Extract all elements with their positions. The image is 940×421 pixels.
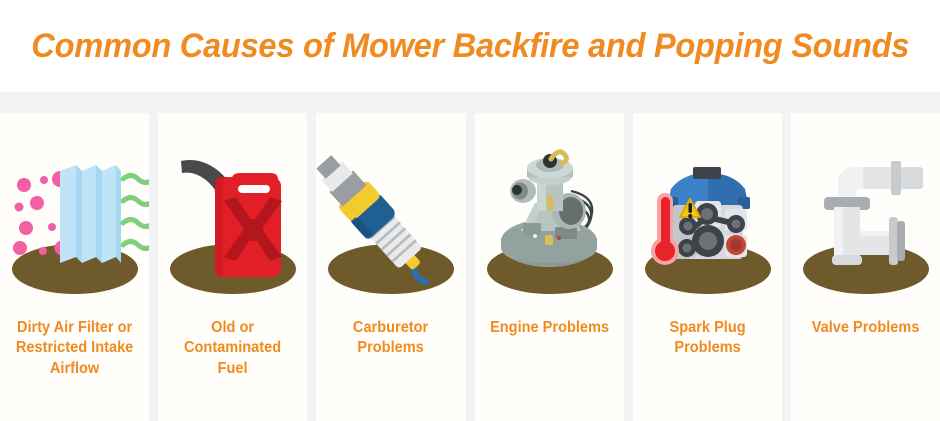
engine-block-icon — [633, 135, 782, 305]
engine-block-art — [633, 135, 782, 305]
carburetor-icon — [475, 135, 624, 305]
card-label: Old or Contaminated Fuel — [163, 318, 303, 379]
card-label: Valve Problems — [795, 318, 935, 338]
fuel-can-icon — [158, 135, 307, 305]
card-valve[interactable]: Valve Problems — [791, 113, 940, 421]
air-filter-icon — [0, 135, 149, 305]
card-engine[interactable]: Engine Problems — [475, 113, 624, 421]
card-label: Dirty Air Filter or Restricted Intake Ai… — [4, 318, 144, 379]
card-spark-plug[interactable]: Spark Plug Problems — [633, 113, 782, 421]
valve-pipe-art — [791, 135, 940, 305]
card-label: Engine Problems — [479, 318, 619, 338]
card-label: Carburetor Problems — [321, 318, 461, 359]
valve-pipe-icon — [791, 135, 940, 305]
carburetor-art — [475, 135, 624, 305]
page-title: Common Causes of Mower Backfire and Popp… — [31, 27, 909, 66]
title-divider-band — [0, 92, 940, 113]
air-filter-art — [0, 135, 149, 305]
card-carburetor[interactable]: Carburetor Problems — [316, 113, 465, 421]
card-fuel[interactable]: Old or Contaminated Fuel — [158, 113, 307, 421]
filter-pleats-group — [60, 165, 121, 263]
airflow-arrows-group — [123, 176, 149, 249]
cards-row: Dirty Air Filter or Restricted Intake Ai… — [0, 113, 940, 421]
spark-plug-art — [316, 135, 465, 305]
title-bar: Common Causes of Mower Backfire and Popp… — [0, 0, 940, 92]
card-air-filter[interactable]: Dirty Air Filter or Restricted Intake Ai… — [0, 113, 149, 421]
spark-plug-icon — [316, 135, 465, 305]
card-label: Spark Plug Problems — [637, 318, 777, 359]
infographic-root: Common Causes of Mower Backfire and Popp… — [0, 0, 940, 421]
fuel-can-art — [158, 135, 307, 305]
